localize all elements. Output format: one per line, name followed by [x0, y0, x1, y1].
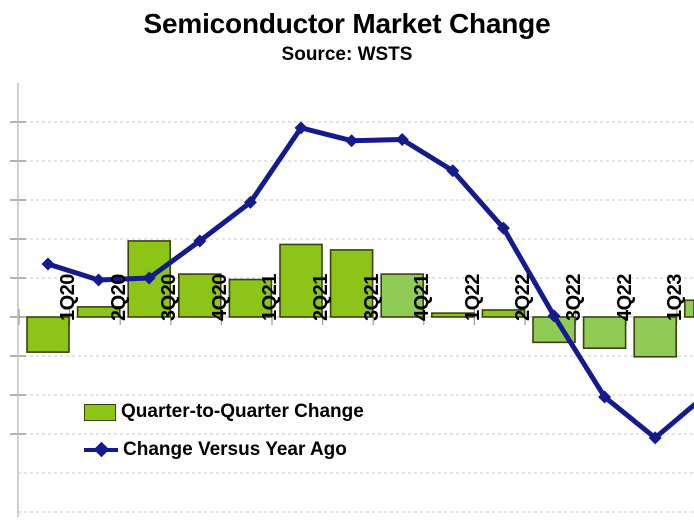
chart-legend: Quarter-to-Quarter Change Change Versus … — [84, 398, 484, 470]
x-axis-label: 3Q20 — [158, 274, 181, 321]
line-marker — [92, 273, 105, 286]
x-axis-label: 1Q23 — [664, 274, 687, 321]
legend-label-bar: Quarter-to-Quarter Change — [121, 401, 364, 423]
legend-swatch-icon — [84, 404, 116, 421]
x-axis-label: 2Q21 — [310, 274, 333, 321]
bar — [27, 317, 69, 352]
line-marker — [42, 257, 55, 270]
legend-line-icon — [84, 442, 118, 458]
x-axis-label: 4Q20 — [209, 274, 232, 321]
x-axis-label: 1Q22 — [462, 274, 485, 321]
x-axis-label: 4Q22 — [614, 274, 637, 321]
x-axis-label: 2Q20 — [108, 274, 131, 321]
chart-subtitle: Source: WSTS — [0, 44, 694, 66]
legend-item-bar: Quarter-to-Quarter Change — [84, 398, 364, 426]
legend-item-line: Change Versus Year Ago — [84, 436, 347, 464]
chart-container: Semiconductor Market Change Source: WSTS… — [0, 0, 694, 532]
x-axis-label: 1Q21 — [259, 274, 282, 321]
x-axis-label: 2Q22 — [512, 274, 535, 321]
bar — [584, 317, 626, 348]
chart-title: Semiconductor Market Change — [0, 8, 694, 40]
legend-label-line: Change Versus Year Ago — [123, 439, 347, 461]
legend-diamond-icon — [94, 442, 110, 458]
x-axis-label: 4Q21 — [411, 274, 434, 321]
x-axis-label: 3Q22 — [563, 274, 586, 321]
x-axis-label: 3Q21 — [361, 274, 384, 321]
line-marker — [345, 134, 358, 147]
bar — [634, 317, 676, 357]
x-axis-label: 1Q20 — [57, 274, 80, 321]
